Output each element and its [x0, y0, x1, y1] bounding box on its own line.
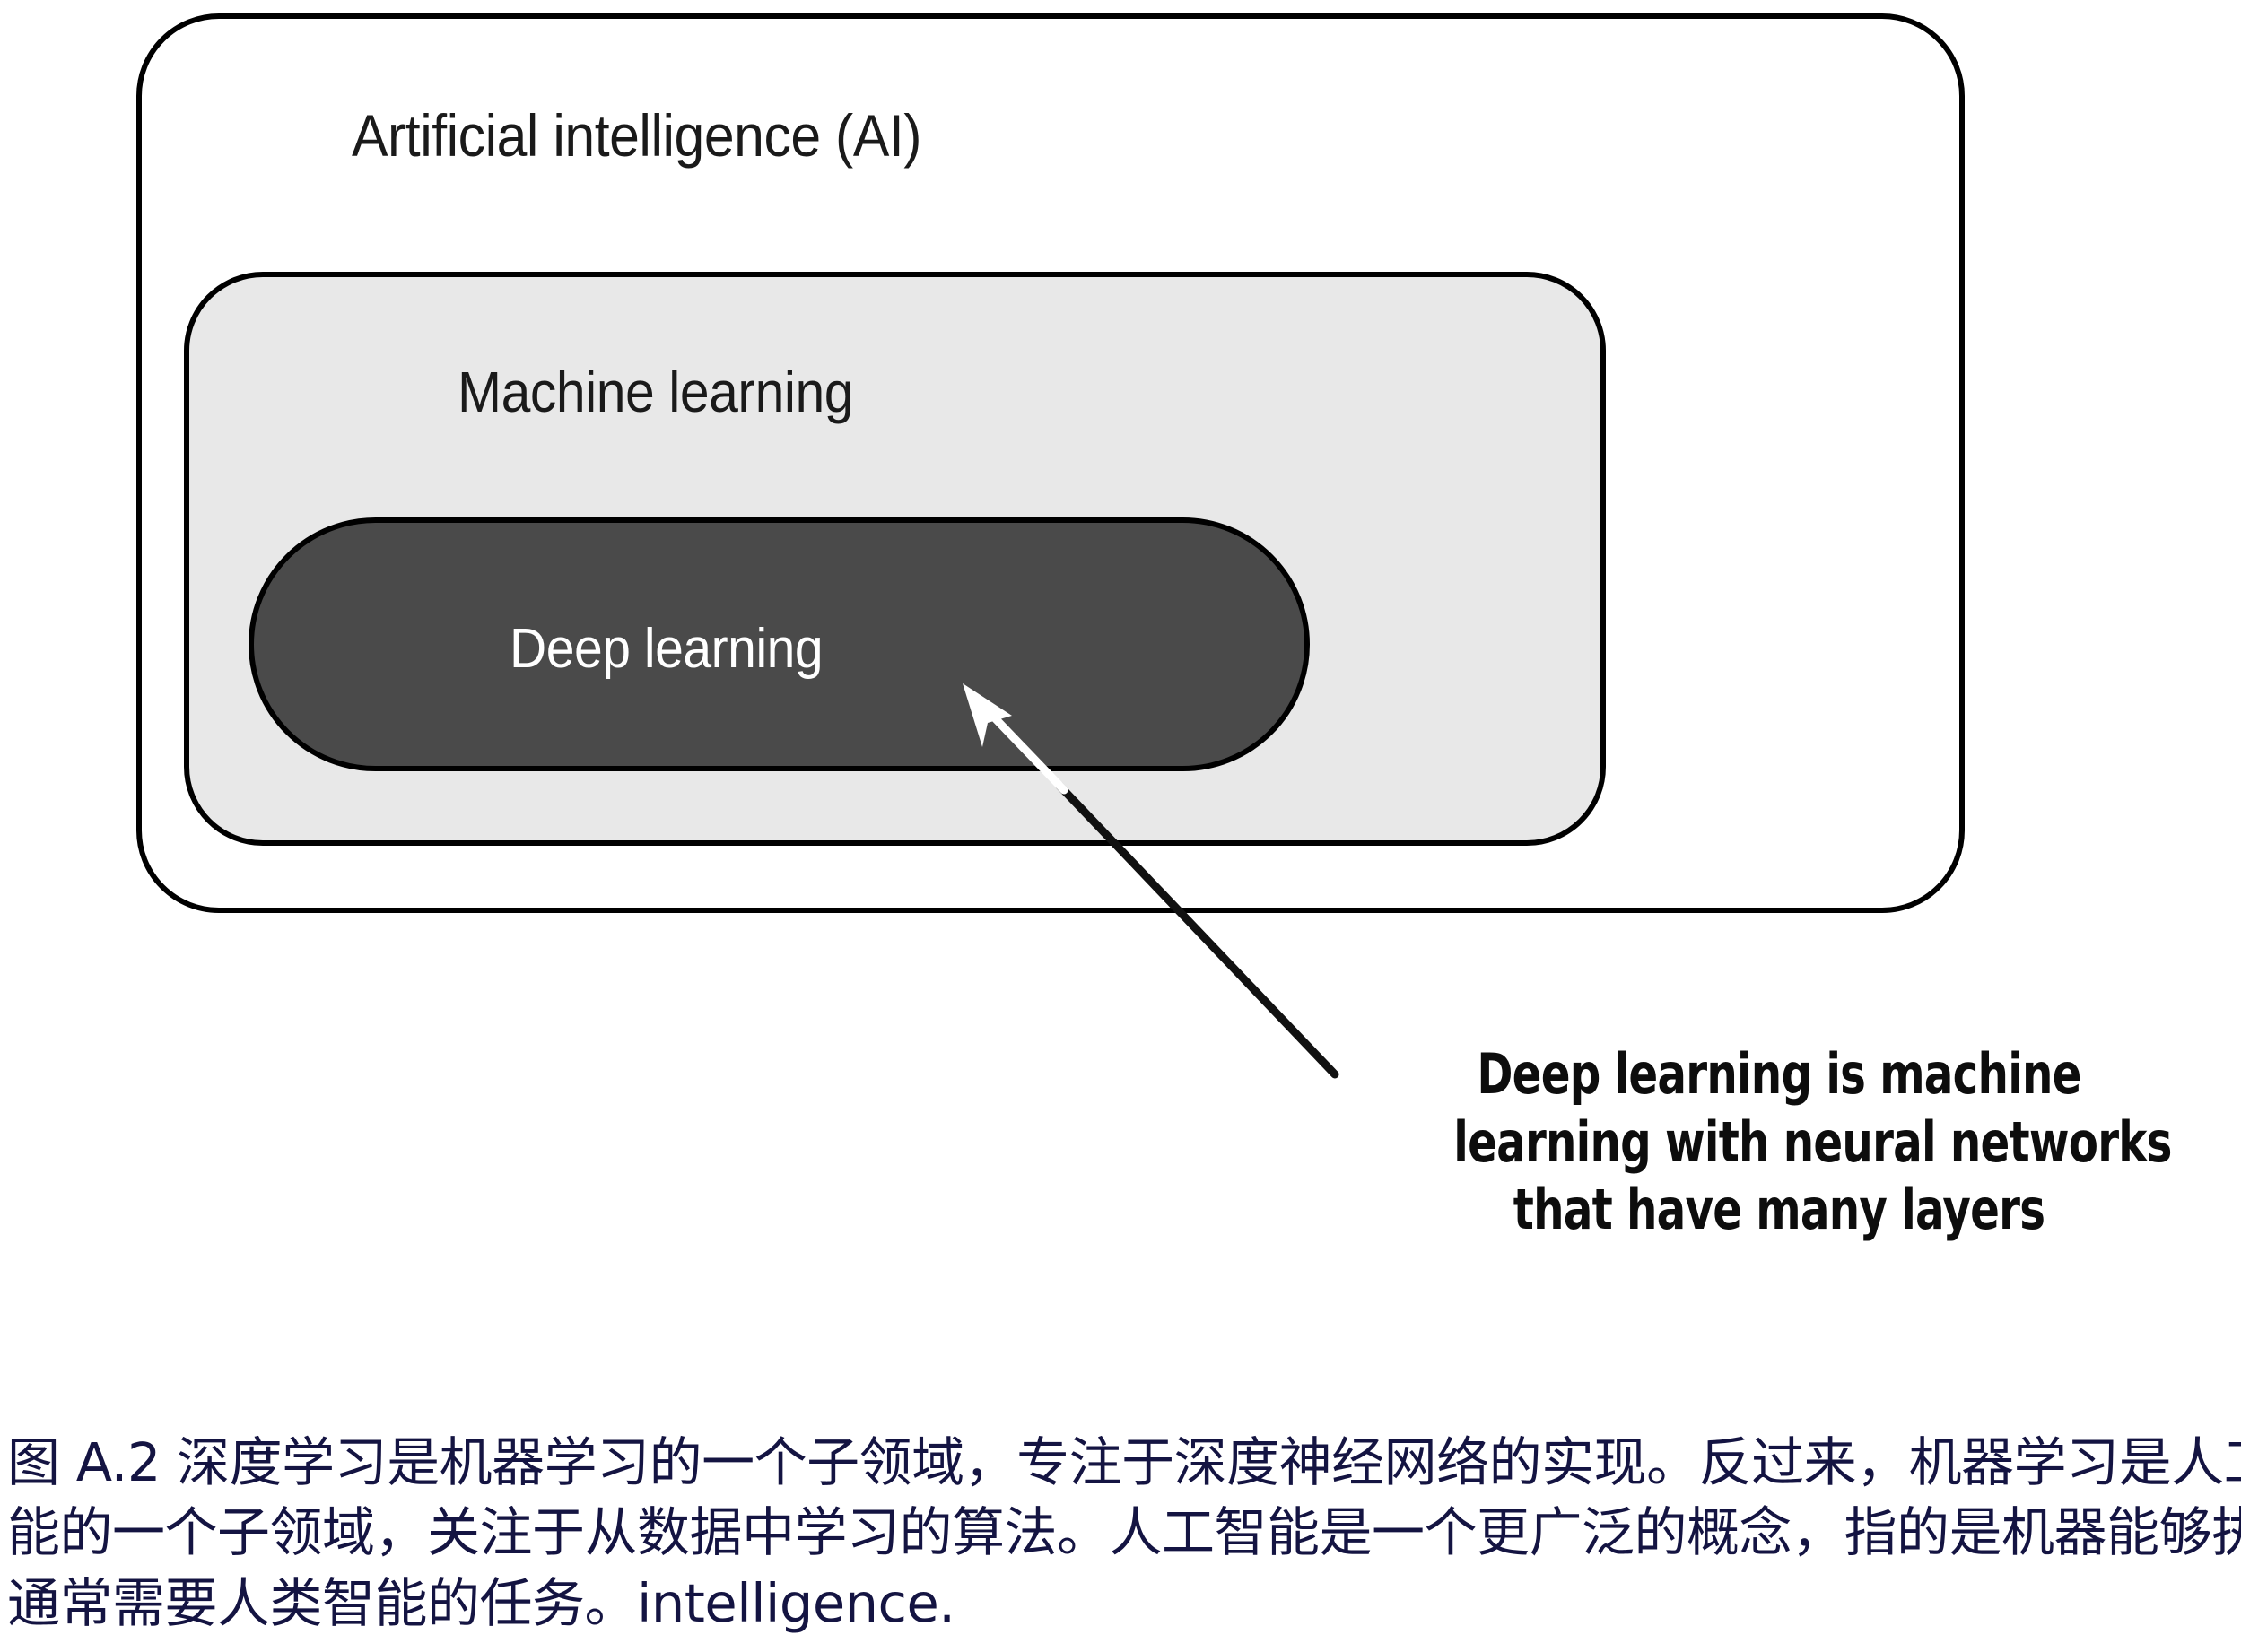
artificial-intelligence-label: Artificial intelligence (AI) — [352, 101, 921, 170]
deep-learning-label: Deep learning — [510, 617, 823, 681]
caption-line-3: 通常需要人类智能的任务。intelligence. — [7, 1569, 2232, 1639]
caption-line-1: 图 A.2 深度学习是机器学习的一个子领域，专注于深度神经网络的实现。反过来，机… — [7, 1428, 2232, 1498]
annotation-text: Deep learning is machine learning with n… — [1362, 1040, 2196, 1244]
machine-learning-label: Machine learning — [458, 359, 853, 425]
figure-caption: 图 A.2 深度学习是机器学习的一个子领域，专注于深度神经网络的实现。反过来，机… — [7, 1428, 2232, 1639]
figure-area: Artificial intelligence (AI) Machine lea… — [0, 0, 2241, 1399]
annotation-line-3: that have many layers — [1453, 1176, 2104, 1244]
caption-line-2: 能的一个子领域，关注于从数据中学习的算法。人工智能是一个更广泛的概念，指的是机器… — [7, 1498, 2232, 1568]
annotation-line-1: Deep learning is machine — [1453, 1040, 2104, 1109]
annotation-line-2: learning with neural networks — [1453, 1109, 2104, 1177]
